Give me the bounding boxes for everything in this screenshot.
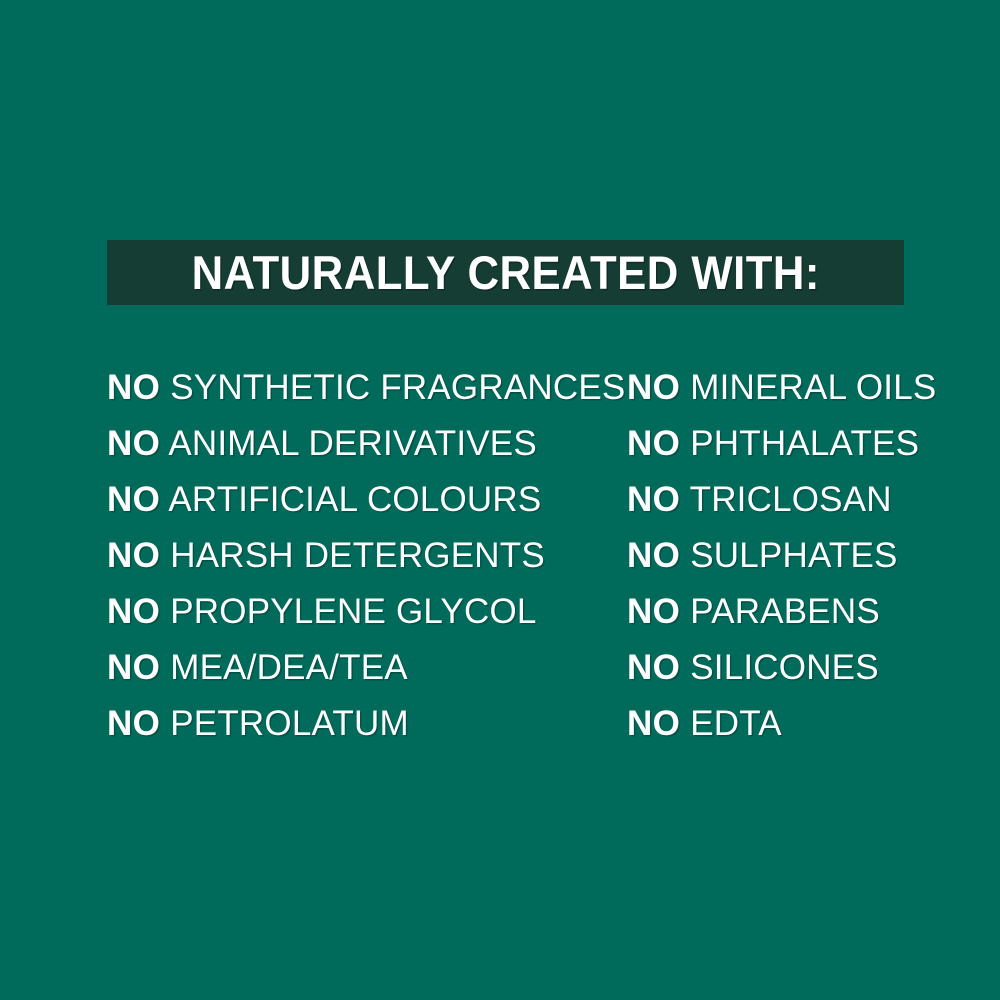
list-item-prefix: NO [627, 648, 680, 687]
list-item-prefix: NO [107, 536, 160, 575]
list-item-prefix: NO [627, 536, 680, 575]
list-item: NO SYNTHETIC FRAGRANCES [107, 360, 625, 416]
list-item: NO PHTHALATES [627, 416, 936, 472]
list-item-label: ARTIFICIAL COLOURS [168, 480, 541, 519]
page-title: NATURALLY CREATED WITH: [191, 249, 819, 296]
list-item-label: ANIMAL DERIVATIVES [168, 424, 537, 463]
list-item-prefix: NO [627, 592, 680, 631]
list-item: NO PROPYLENE GLYCOL [107, 584, 625, 640]
list-item: NO ARTIFICIAL COLOURS [107, 472, 625, 528]
list-item-prefix: NO [107, 480, 160, 519]
list-item-prefix: NO [107, 648, 160, 687]
list-item-label: PETROLATUM [170, 704, 409, 743]
list-item-prefix: NO [627, 704, 680, 743]
list-item: NO TRICLOSAN [627, 472, 936, 528]
list-item-label: HARSH DETERGENTS [170, 536, 545, 575]
list-item-prefix: NO [107, 592, 160, 631]
list-item: NO PARABENS [627, 584, 936, 640]
list-item: NO MEA/DEA/TEA [107, 640, 625, 696]
list-item-label: MINERAL OILS [690, 368, 936, 407]
title-banner: NATURALLY CREATED WITH: [107, 240, 904, 305]
list-item-label: PROPYLENE GLYCOL [170, 592, 536, 631]
poster-canvas: NATURALLY CREATED WITH: NO SYNTHETIC FRA… [0, 0, 1000, 1000]
list-item: NO SULPHATES [627, 528, 936, 584]
list-item: NO EDTA [627, 696, 936, 752]
list-item: NO HARSH DETERGENTS [107, 528, 625, 584]
list-item-label: SYNTHETIC FRAGRANCES [170, 368, 625, 407]
list-item-label: MEA/DEA/TEA [170, 648, 408, 687]
list-item: NO PETROLATUM [107, 696, 625, 752]
list-item-label: EDTA [690, 704, 782, 743]
list-item-label: PARABENS [690, 592, 880, 631]
list-item-label: PHTHALATES [690, 424, 919, 463]
list-item: NO ANIMAL DERIVATIVES [107, 416, 625, 472]
list-item: NO SILICONES [627, 640, 936, 696]
list-item-prefix: NO [107, 424, 160, 463]
list-item-prefix: NO [627, 480, 680, 519]
list-item-prefix: NO [627, 368, 680, 407]
left-column: NO SYNTHETIC FRAGRANCES NO ANIMAL DERIVA… [107, 360, 625, 752]
list-item-prefix: NO [107, 368, 160, 407]
list-item-prefix: NO [107, 704, 160, 743]
list-item-label: TRICLOSAN [690, 480, 892, 519]
list-item-label: SILICONES [690, 648, 879, 687]
right-column: NO MINERAL OILS NO PHTHALATES NO TRICLOS… [627, 360, 936, 752]
list-item-prefix: NO [627, 424, 680, 463]
list-item-label: SULPHATES [690, 536, 897, 575]
list-item: NO MINERAL OILS [627, 360, 936, 416]
